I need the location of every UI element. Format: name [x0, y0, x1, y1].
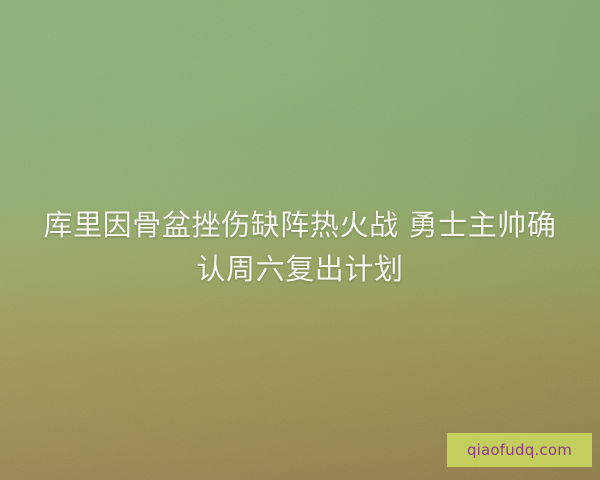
watermark-badge: qiaofudq.com [447, 433, 592, 467]
page-title: 库里因骨盆挫伤缺阵热火战 勇士主帅确认周六复出计划 [0, 203, 600, 291]
watermark-label: qiaofudq.com [467, 443, 572, 458]
image-canvas: 库里因骨盆挫伤缺阵热火战 勇士主帅确认周六复出计划 qiaofudq.com [0, 0, 600, 480]
